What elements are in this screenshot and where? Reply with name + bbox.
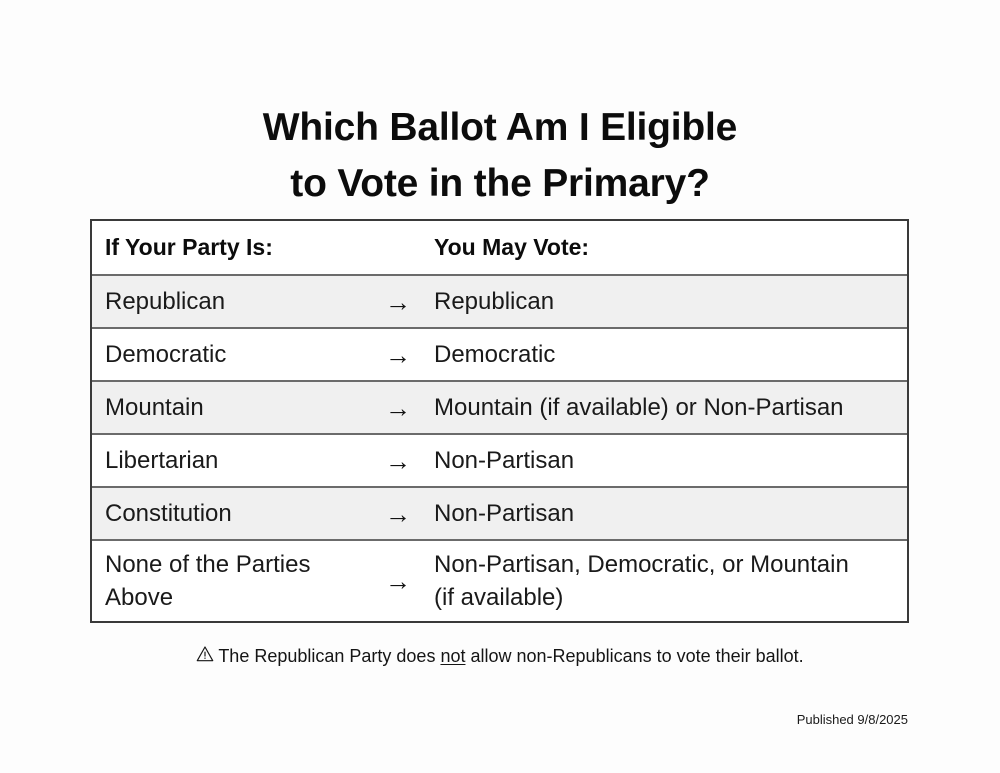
footnote-emphasis: not bbox=[440, 646, 465, 666]
table-row: Mountain → Mountain (if available) or No… bbox=[92, 382, 907, 435]
row-party-name-line-1: None of the Parties bbox=[105, 551, 310, 578]
footnote-text-after: allow non-Republicans to vote their ball… bbox=[465, 646, 803, 666]
row-eligible-ballot-line-1: Non-Partisan, Democratic, or Mountain bbox=[434, 551, 849, 578]
arrow-right-icon: → bbox=[374, 446, 422, 476]
row-party-name: Republican bbox=[92, 285, 374, 318]
row-party-name: Democratic bbox=[92, 338, 374, 371]
arrow-right-icon: → bbox=[374, 340, 422, 370]
row-party-name: Libertarian bbox=[92, 444, 374, 477]
arrow-right-icon: → bbox=[374, 393, 422, 423]
eligibility-table: If Your Party Is: You May Vote: Republic… bbox=[90, 219, 909, 623]
table-header-row: If Your Party Is: You May Vote: bbox=[92, 221, 907, 276]
published-date: Published 9/8/2025 bbox=[797, 711, 908, 729]
row-eligible-ballot: Democratic bbox=[422, 338, 907, 371]
page-title-line-2: to Vote in the Primary? bbox=[0, 156, 1000, 212]
page-title-line-1: Which Ballot Am I Eligible bbox=[0, 100, 1000, 156]
row-party-name: Constitution bbox=[92, 497, 374, 530]
footnote-text-before: The Republican Party does bbox=[218, 646, 440, 666]
arrow-right-icon: → bbox=[374, 287, 422, 317]
column-header-party: If Your Party Is: bbox=[92, 231, 374, 264]
table-row: Democratic → Democratic bbox=[92, 329, 907, 382]
table-row: Republican → Republican bbox=[92, 276, 907, 329]
table-row: Libertarian → Non-Partisan bbox=[92, 435, 907, 488]
row-eligible-ballot: Mountain (if available) or Non-Partisan bbox=[422, 391, 907, 424]
row-eligible-ballot-line-2: (if available) bbox=[434, 581, 899, 614]
page-title: Which Ballot Am I Eligible to Vote in th… bbox=[0, 100, 1000, 212]
footnote: The Republican Party does not allow non-… bbox=[0, 643, 1000, 670]
warning-triangle-icon bbox=[196, 644, 214, 670]
arrow-right-icon: → bbox=[374, 566, 422, 596]
table-row: Constitution → Non-Partisan bbox=[92, 488, 907, 541]
row-eligible-ballot: Non-Partisan bbox=[422, 497, 907, 530]
table-row: None of the Parties Above → Non-Partisan… bbox=[92, 541, 907, 621]
row-eligible-ballot: Non-Partisan bbox=[422, 444, 907, 477]
column-header-vote: You May Vote: bbox=[422, 231, 907, 264]
arrow-right-icon: → bbox=[374, 499, 422, 529]
row-party-name: None of the Parties Above bbox=[92, 548, 374, 614]
row-eligible-ballot: Republican bbox=[422, 285, 907, 318]
infographic-page: Which Ballot Am I Eligible to Vote in th… bbox=[0, 0, 1000, 773]
row-eligible-ballot: Non-Partisan, Democratic, or Mountain (i… bbox=[422, 548, 907, 614]
row-party-name: Mountain bbox=[92, 391, 374, 424]
row-party-name-line-2: Above bbox=[105, 581, 374, 614]
